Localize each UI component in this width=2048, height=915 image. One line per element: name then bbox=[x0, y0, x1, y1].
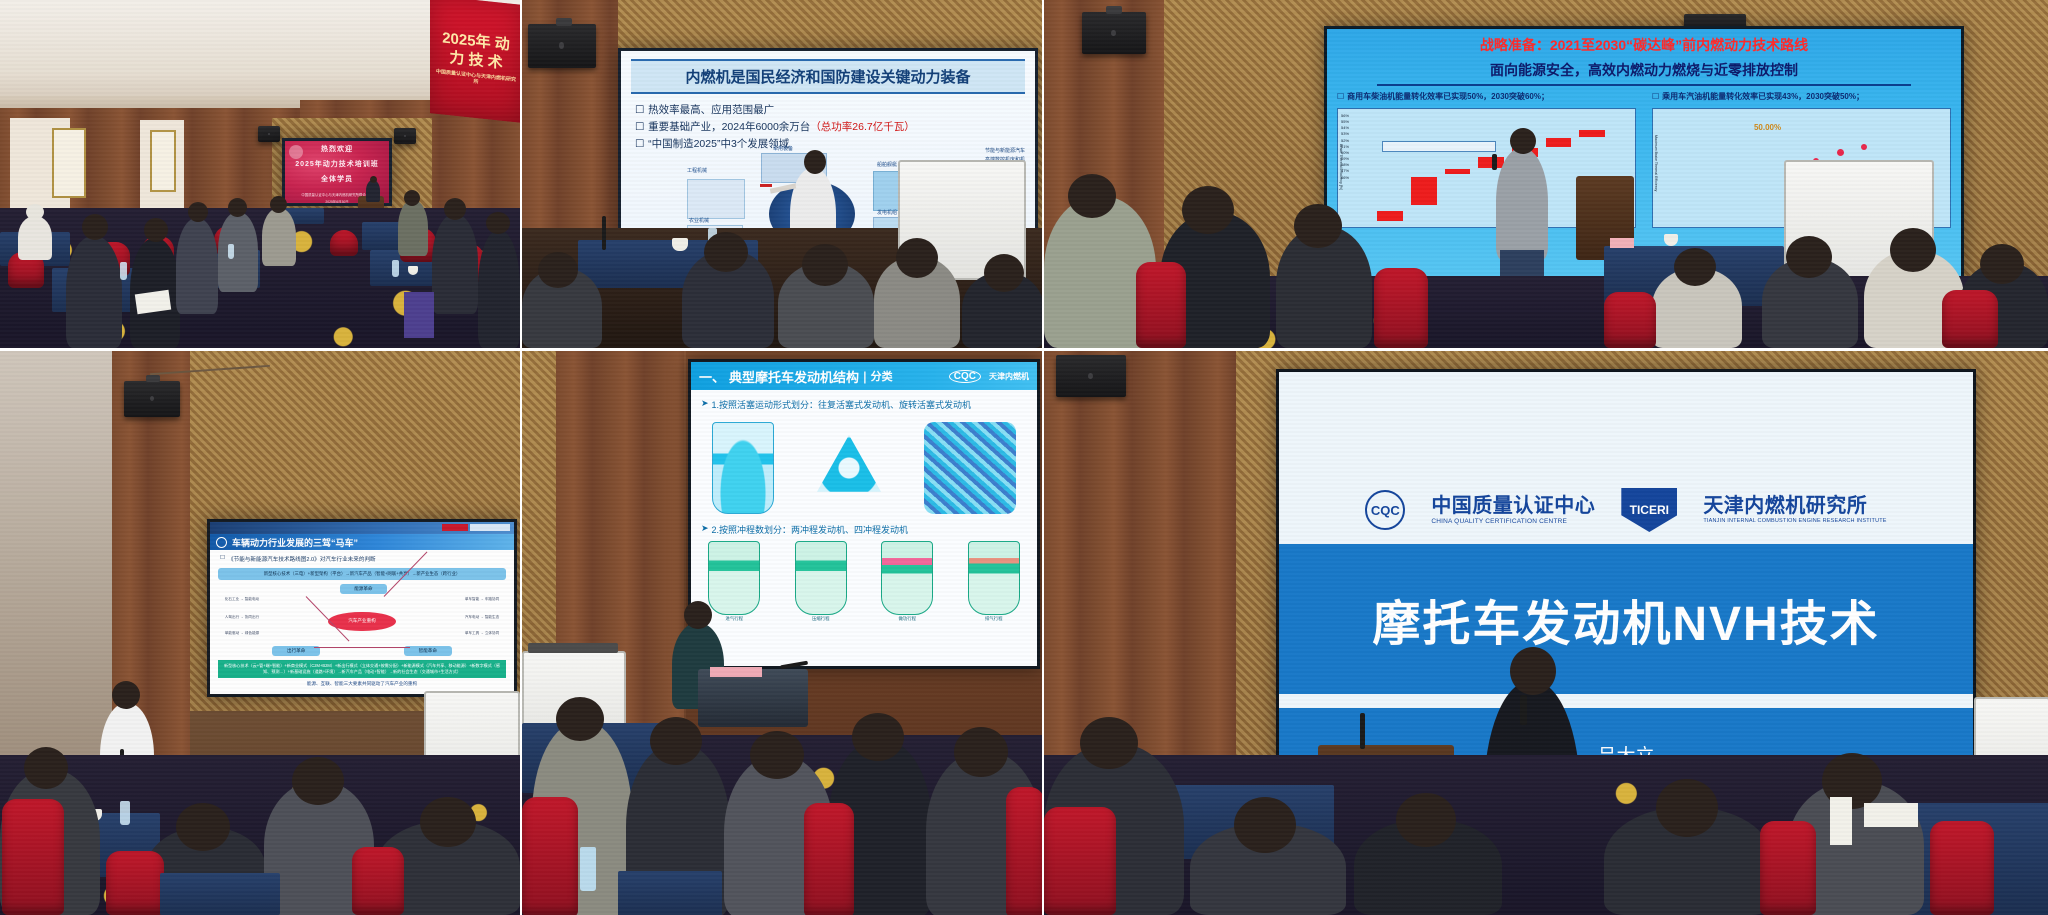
diagram-label-3: 船舶舰艇 bbox=[877, 161, 897, 168]
presenter bbox=[366, 180, 380, 202]
presenter-3 bbox=[1496, 148, 1548, 260]
chevron-right-icon: ➤ bbox=[701, 398, 709, 411]
reciprocating-piston-icon bbox=[712, 422, 774, 514]
horses-top-band: 新型核心技术（三电）+新型架构（平台）→新汽车产品（智能+网联+共享）→新产业生… bbox=[218, 568, 506, 580]
carbon-subtitle-post: ，高效内燃动力燃烧与近零排放控制 bbox=[1574, 62, 1798, 78]
checkbox-icon: ☐ bbox=[1337, 92, 1344, 103]
moto-structure-slide: 一、 典型摩托车发动机结构 | 分类 CQC 天津内燃机 ➤ 1.按照活塞运动形… bbox=[691, 362, 1037, 666]
nvh-logo-row: CQC 中国质量认证中心 CHINA QUALITY CERTIFICATION… bbox=[1279, 482, 1973, 538]
photo-1-cell: 2025年 动 力 技 术 中国质量认证中心与天津内燃机研究所 热烈欢迎 202… bbox=[0, 0, 520, 348]
moto-title-prefix: 一、 bbox=[699, 367, 725, 386]
stroke-power-icon bbox=[881, 541, 933, 615]
carbon-subtitle-highlight: 能源安全 bbox=[1518, 62, 1574, 78]
rotary-engine-icon bbox=[817, 435, 881, 501]
ticeri-name-cn: 天津内燃机研究所 bbox=[1703, 495, 1886, 518]
ticeri-name-en: TIANJIN INTERNAL COMBUSTION ENGINE RESEA… bbox=[1703, 518, 1886, 524]
carbon-bullet-1: 商用车柴油机能量转化效率已实现50%，2030突破60%； bbox=[1347, 92, 1549, 103]
photo-1: 2025年 动 力 技 术 中国质量认证中心与天津内燃机研究所 热烈欢迎 202… bbox=[0, 0, 520, 348]
welcome-line-3: 全体学员 bbox=[321, 174, 353, 184]
diagram-label-5: 发电机组 bbox=[877, 209, 897, 216]
projection-screen-5: 一、 典型摩托车发动机结构 | 分类 CQC 天津内燃机 ➤ 1.按照活塞运动形… bbox=[688, 359, 1040, 669]
cycle-label-3: 排气行程 bbox=[968, 616, 1020, 622]
moto-item-2: 2.按照冲程数划分：两冲程发动机、四冲程发动机 bbox=[712, 523, 909, 536]
carbon-subtitle-pre: 面向 bbox=[1490, 62, 1518, 78]
diagram-label-4: 军用装备 bbox=[773, 145, 793, 152]
checkbox-icon: ☐ bbox=[635, 102, 644, 119]
cqc-name-en: CHINA QUALITY CERTIFICATION CENTRE bbox=[1431, 518, 1595, 525]
carbon-title-rest: 2021至2030“碳达峰”前内燃动力技术路线 bbox=[1550, 37, 1808, 53]
sidebar-item-0: 节能与新能源汽车 bbox=[985, 147, 1029, 156]
photo-5: 一、 典型摩托车发动机结构 | 分类 CQC 天津内燃机 ➤ 1.按照活塞运动形… bbox=[522, 351, 1042, 915]
checkbox-icon: ☐ bbox=[1652, 92, 1659, 103]
moto-item-1: 1.按照活塞运动形式划分：往复活塞式发动机、旋转活塞式发动机 bbox=[712, 398, 972, 411]
engine-cutaway-icon bbox=[924, 422, 1016, 514]
stroke-intake-icon bbox=[708, 541, 760, 615]
diagram-label-1: 工程机械 bbox=[687, 167, 707, 174]
ice-bullet-3: ☐ “中国制造2025”中3个发展领域 bbox=[635, 136, 1021, 153]
ice-bullet-2: ☐ 重要基础产业，2024年6000余万台（总功率26.7亿千瓦） bbox=[635, 119, 1021, 136]
horses-bottom-band: 新型核心技术（云+管+端+智能）+新商业模式（C2M+B2M）+新出行模式（立体… bbox=[218, 660, 506, 678]
ice-slide-title: 内燃机是国民经济和国防建设关键动力装备 bbox=[631, 59, 1025, 94]
photo-5-cell: 一、 典型摩托车发动机结构 | 分类 CQC 天津内燃机 ➤ 1.按照活塞运动形… bbox=[520, 348, 1042, 915]
nvh-main-title: 摩托车发动机NVH技术 bbox=[1372, 584, 1879, 654]
carbon-bullet-2: 乘用车汽油机能量转化效率已实现43%，2030突破50%； bbox=[1662, 92, 1864, 103]
ice-bullet-1: ☐ 热效率最高、应用范围最广 bbox=[635, 102, 1021, 119]
projection-screen-4: 车辆动力行业发展的三驾“马车” ☐ 《节能与新能源汽车技术路线图2.0》对汽车行… bbox=[207, 519, 517, 697]
horses-bullet: 《节能与新能源汽车技术路线图2.0》对汽车行业未来的判断 bbox=[228, 555, 376, 563]
wall-banner: 2025年 动 力 技 术 中国质量认证中心与天津内燃机研究所 bbox=[430, 0, 520, 123]
horses-footnote: 能源、互联、智能三大要素共同驱动了汽车产业的重构 bbox=[210, 681, 514, 687]
photo-2: 内燃机是国民经济和国防建设关键动力装备 ☐ 热效率最高、应用范围最广 ☐ 重要基… bbox=[522, 0, 1042, 348]
ice-bullet-highlight: （总功率26.7亿千瓦） bbox=[810, 121, 914, 133]
diagram-label-2: 农业机械 bbox=[689, 217, 709, 224]
photo-3: 战略准备：2021至2030“碳达峰”前内燃动力技术路线 面向能源安全，高效内燃… bbox=[1044, 0, 2048, 348]
moto-title-sub: 分类 bbox=[871, 368, 893, 384]
photo-4: 车辆动力行业发展的三驾“马车” ☐ 《节能与新能源汽车技术路线图2.0》对汽车行… bbox=[0, 351, 520, 915]
three-horses-slide: 车辆动力行业发展的三驾“马车” ☐ 《节能与新能源汽车技术路线图2.0》对汽车行… bbox=[210, 522, 514, 694]
cqc-logo-icon: CQC bbox=[949, 370, 981, 383]
cqc-name-cn: 中国质量认证中心 bbox=[1431, 495, 1595, 518]
horses-title: 车辆动力行业发展的三驾“马车” bbox=[232, 536, 358, 549]
welcome-line-2: 2025年动力技术培训班 bbox=[295, 159, 379, 169]
cycle-label-2: 做功行程 bbox=[881, 616, 933, 622]
banner-line-1: 2025年 动 力 技 术 bbox=[434, 29, 518, 75]
emblem-icon bbox=[216, 537, 227, 548]
ticeri-logo-icon: 天津内燃机 bbox=[989, 371, 1029, 382]
carbon-title-label: 战略准备： bbox=[1480, 37, 1550, 53]
welcome-line-1: 热烈欢迎 bbox=[321, 144, 353, 154]
photo-4-cell: 车辆动力行业发展的三驾“马车” ☐ 《节能与新能源汽车技术路线图2.0》对汽车行… bbox=[0, 348, 520, 915]
welcome-footer-2: 2025年6月30日 bbox=[325, 199, 348, 204]
photo-2-cell: 内燃机是国民经济和国防建设关键动力装备 ☐ 热效率最高、应用范围最广 ☐ 重要基… bbox=[520, 0, 1042, 348]
checkbox-icon: ☐ bbox=[220, 555, 225, 563]
checkbox-icon: ☐ bbox=[635, 136, 644, 153]
cycle-label-1: 压缩行程 bbox=[795, 616, 847, 622]
checkbox-icon: ☐ bbox=[635, 119, 644, 136]
ticeri-shield-icon: TICERI bbox=[1621, 488, 1677, 532]
moto-title-divider: | bbox=[863, 369, 867, 384]
photo-3-cell: 战略准备：2021至2030“碳达峰”前内燃动力技术路线 面向能源安全，高效内燃… bbox=[1042, 0, 2048, 348]
stroke-exhaust-icon bbox=[968, 541, 1020, 615]
photo-6-cell: CQC 中国质量认证中心 CHINA QUALITY CERTIFICATION… bbox=[1042, 348, 2048, 915]
cqc-globe-icon: CQC bbox=[1365, 490, 1405, 530]
chevron-right-icon: ➤ bbox=[701, 523, 709, 536]
photo-6: CQC 中国质量认证中心 CHINA QUALITY CERTIFICATION… bbox=[1044, 351, 2048, 915]
cycle-label-0: 进气行程 bbox=[708, 616, 760, 622]
moto-title: 典型摩托车发动机结构 bbox=[729, 367, 859, 386]
photo-collage: 2025年 动 力 技 术 中国质量认证中心与天津内燃机研究所 热烈欢迎 202… bbox=[0, 0, 2048, 915]
stroke-compression-icon bbox=[795, 541, 847, 615]
